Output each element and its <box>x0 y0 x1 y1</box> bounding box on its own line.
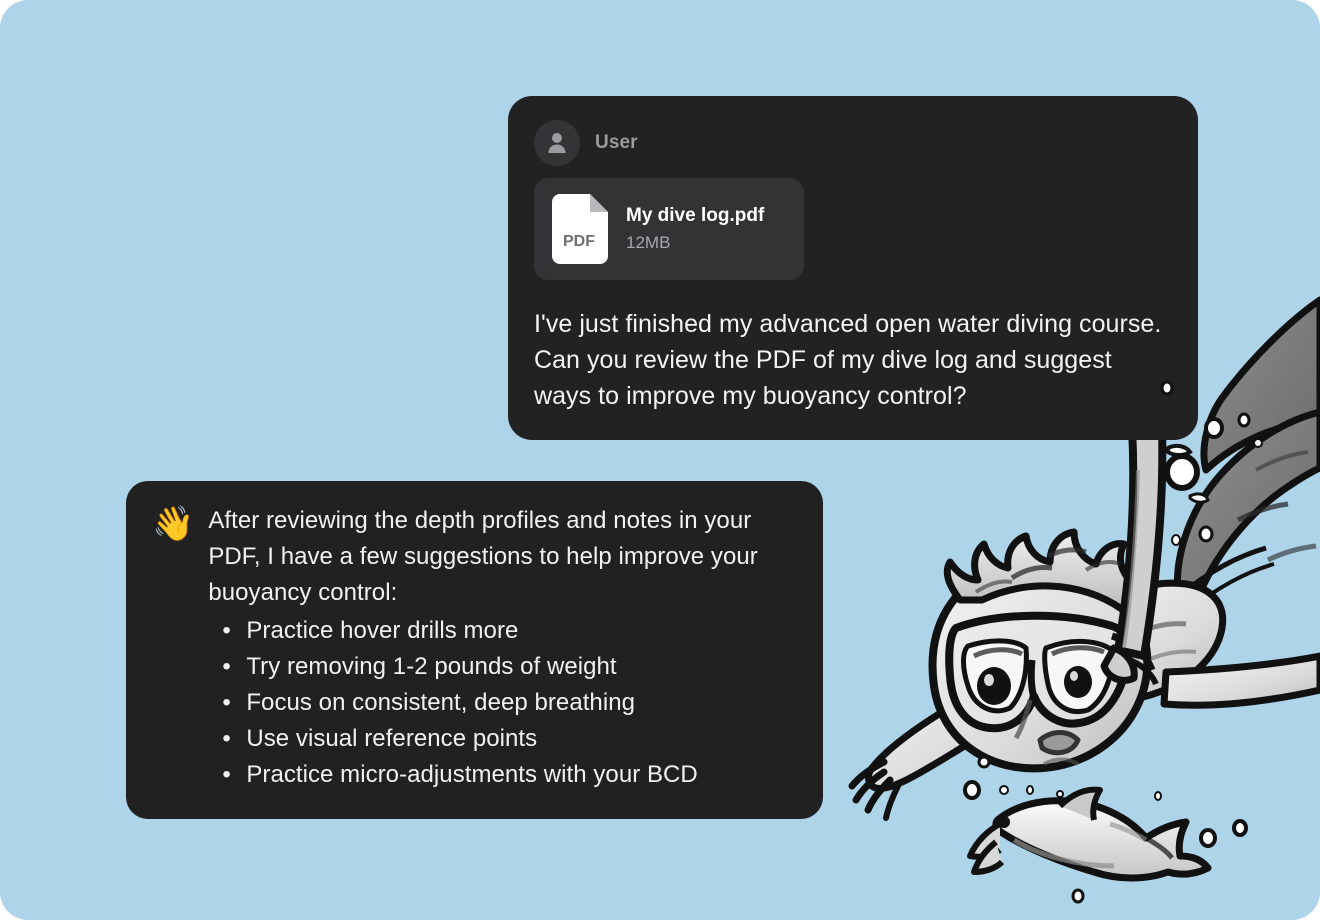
assistant-message-bubble: 👋 After reviewing the depth profiles and… <box>126 481 823 819</box>
user-avatar-icon <box>544 130 570 156</box>
avatar <box>534 120 580 166</box>
attachment-filesize: 12MB <box>626 233 764 253</box>
list-item: Practice micro-adjustments with your BCD <box>208 757 793 793</box>
list-item: Use visual reference points <box>208 721 793 757</box>
list-item: Focus on consistent, deep breathing <box>208 685 793 721</box>
assistant-intro-text: After reviewing the depth profiles and n… <box>208 503 793 611</box>
attachment-card[interactable]: PDF My dive log.pdf 12MB <box>534 178 804 280</box>
suggestion-list: Practice hover drills more Try removing … <box>208 613 793 793</box>
fish-illustration <box>970 790 1208 878</box>
user-message-header: User <box>534 120 1172 166</box>
waving-hand-emoji: 👋 <box>152 505 194 543</box>
chat-scene: User PDF My dive log.pdf 12MB I've just … <box>0 0 1320 920</box>
svg-text:PDF: PDF <box>563 233 595 250</box>
attachment-filename: My dive log.pdf <box>626 205 764 227</box>
list-item: Practice hover drills more <box>208 613 793 649</box>
assistant-message-body: After reviewing the depth profiles and n… <box>208 503 793 793</box>
list-item: Try removing 1-2 pounds of weight <box>208 649 793 685</box>
user-message-bubble: User PDF My dive log.pdf 12MB I've just … <box>508 96 1198 440</box>
user-name-label: User <box>595 132 638 154</box>
user-message-text: I've just finished my advanced open wate… <box>534 306 1172 414</box>
attachment-meta: My dive log.pdf 12MB <box>626 205 764 253</box>
pdf-file-icon: PDF <box>552 194 608 264</box>
air-bubbles <box>965 414 1262 902</box>
